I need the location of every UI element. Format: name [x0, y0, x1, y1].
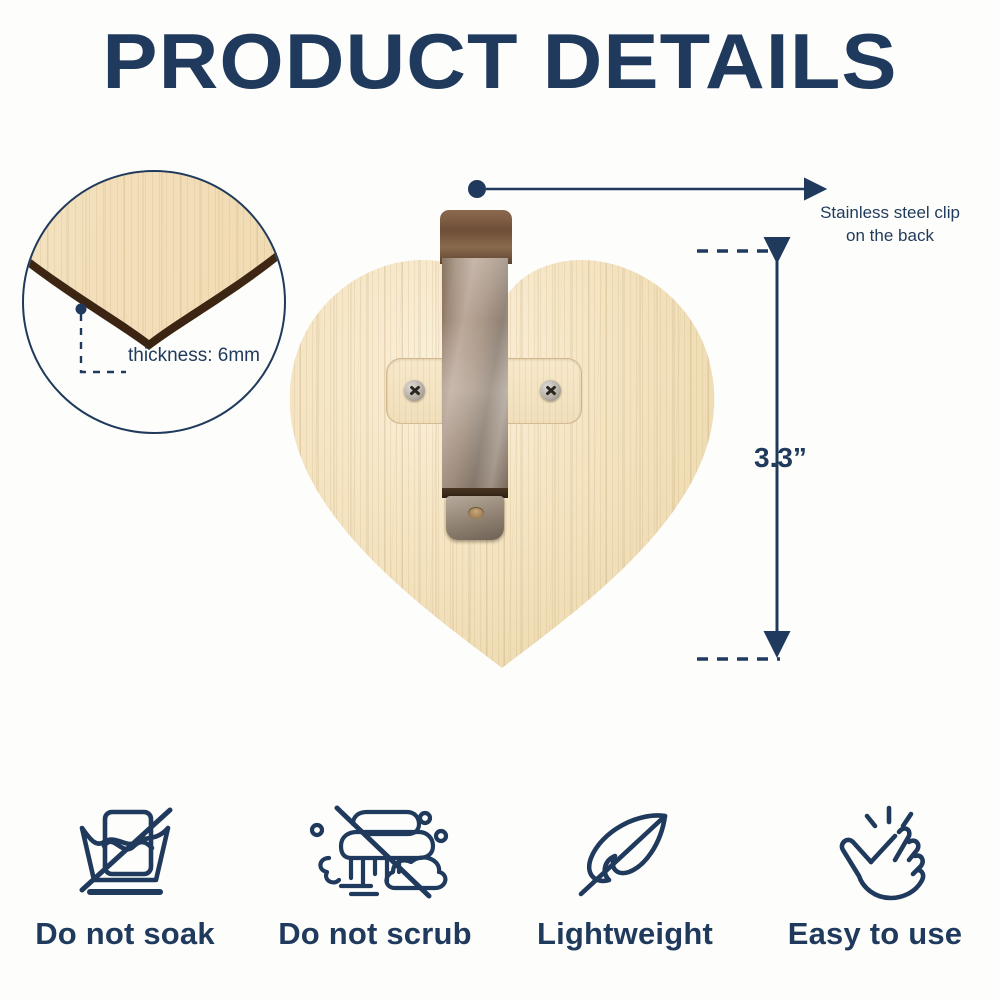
- callout-origin-dot: [468, 180, 486, 198]
- annotation-overlay: [0, 0, 1000, 1000]
- infographic-stage: PRODUCT DETAILS thickness: 6mm: [0, 0, 1000, 1000]
